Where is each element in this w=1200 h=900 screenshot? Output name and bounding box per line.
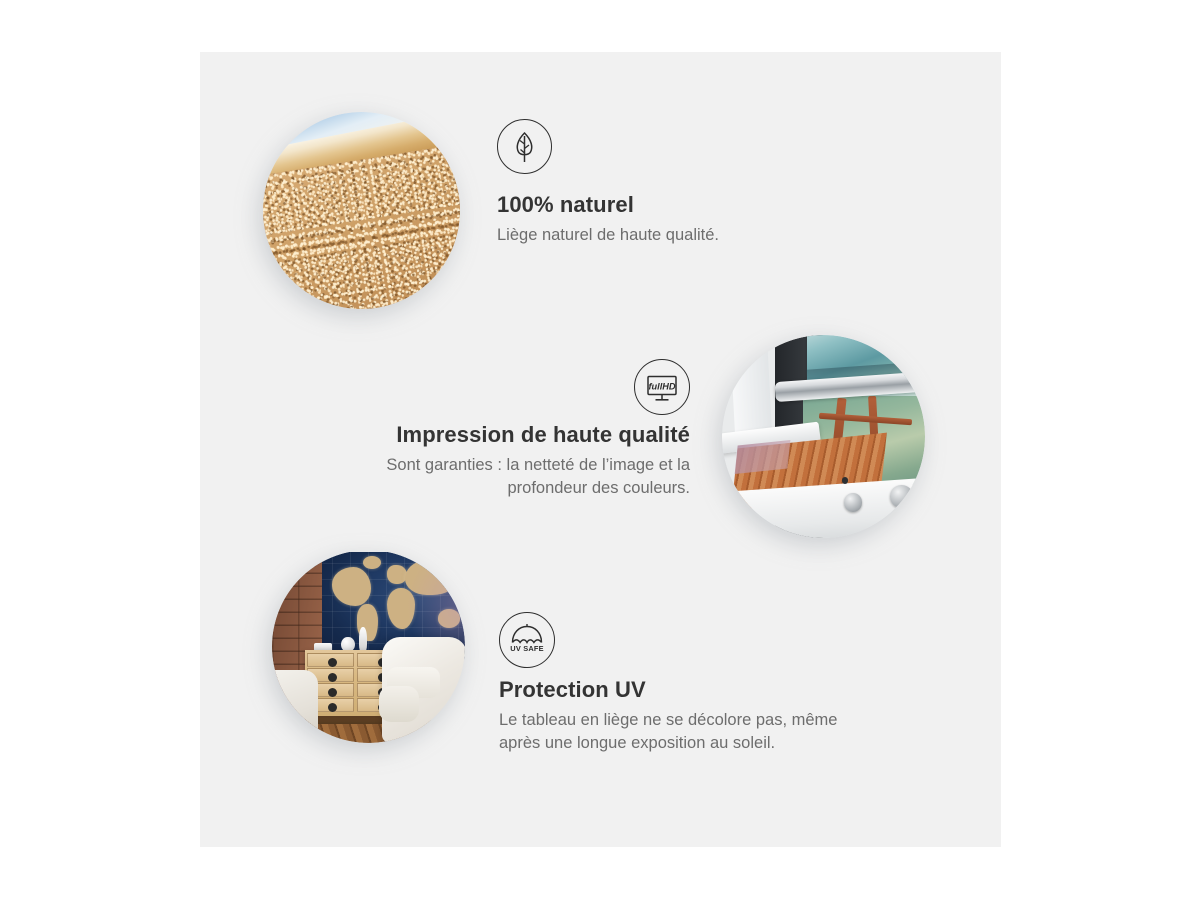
product-feature-infographic: 100% naturel Liège naturel de haute qual… [0,0,1200,900]
feature-description-print-quality-line2: profondeur des couleurs. [330,477,690,499]
content-panel: 100% naturel Liège naturel de haute qual… [200,52,1001,847]
continent-europe [387,565,406,584]
feature-description-uv-protection-line1: Le tableau en liège ne se décolore pas, … [499,709,837,731]
room-interior-world-map-photo [272,550,465,743]
printed-deck-highlight [735,440,791,474]
feature-text-print-quality: Impression de haute qualité Sont garanti… [330,422,690,499]
printer-knob-1 [844,493,862,511]
printer-indicator-dot [842,477,848,483]
feature-title-uv-protection: Protection UV [499,677,837,702]
continent-asia [405,561,457,596]
feature-text-natural: 100% naturel Liège naturel de haute qual… [497,192,719,247]
continent-africa [387,588,415,629]
uv-safe-umbrella-icon: UV SAFE [499,612,555,668]
decor-figurine [359,627,367,652]
uv-safe-icon-label: UV SAFE [510,644,543,653]
cork-board-closeup-photo [263,112,460,309]
leaf-icon [497,119,552,174]
feature-title-natural: 100% naturel [497,192,719,217]
feature-text-uv-protection: Protection UV Le tableau en liège ne se … [499,677,837,754]
fullhd-icon-label: fullHD [648,381,675,391]
armchair-right [382,637,465,743]
feature-description-natural: Liège naturel de haute qualité. [497,224,719,246]
feature-title-print-quality: Impression de haute qualité [330,422,690,447]
continent-australia [438,609,461,627]
feature-description-uv-protection-line2: après une longue exposition au soleil. [499,732,837,754]
armchair-left [272,670,318,743]
fullhd-monitor-icon: fullHD [634,359,690,415]
printer-knob-2 [890,485,912,507]
feature-description-print-quality-line1: Sont garanties : la netteté de l’image e… [330,454,690,476]
armchair-right-arm [379,686,420,722]
large-format-printer-photo [722,335,925,538]
